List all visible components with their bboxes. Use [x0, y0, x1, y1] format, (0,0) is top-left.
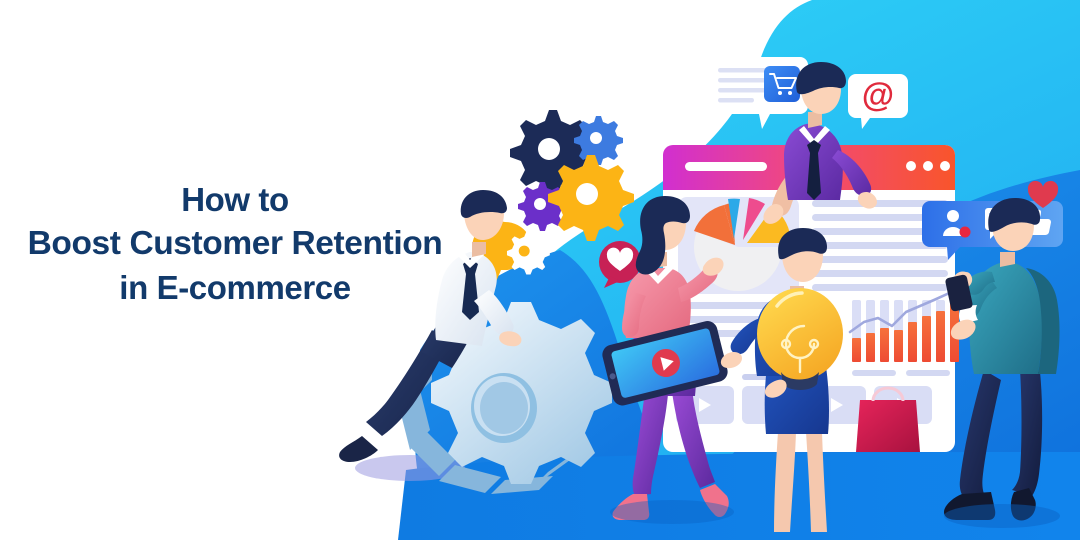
woman-hand-right — [703, 258, 724, 276]
bulb-woman-hand-left — [721, 352, 742, 368]
man-with-phone — [944, 198, 1060, 528]
hero-illustration-banner: How to Boost Customer Retention in E-com… — [0, 0, 1080, 540]
browser-man-neck — [808, 112, 822, 128]
phoneman-shadow — [944, 504, 1060, 528]
phoneman-leg-right — [1012, 370, 1042, 496]
woman-leg-right — [672, 388, 715, 488]
browser-man-hand-right — [858, 192, 877, 209]
woman-phone-shadow — [610, 500, 734, 524]
woman-leg-left — [633, 392, 668, 496]
woman-with-lightbulb — [721, 228, 843, 532]
man-shoe-back — [339, 436, 378, 462]
smartphone-held — [600, 319, 729, 408]
phoneman-leg-left — [960, 370, 1001, 498]
characters-layer — [0, 0, 1080, 540]
man-on-browser — [763, 62, 877, 224]
bulb-woman-leg-right — [806, 432, 827, 532]
man-neck — [472, 242, 486, 257]
bulb-woman-leg-left — [774, 432, 796, 532]
woman-with-phone — [600, 196, 729, 520]
browser-man-hand-left — [763, 204, 783, 224]
browser-man-tie — [807, 140, 821, 200]
